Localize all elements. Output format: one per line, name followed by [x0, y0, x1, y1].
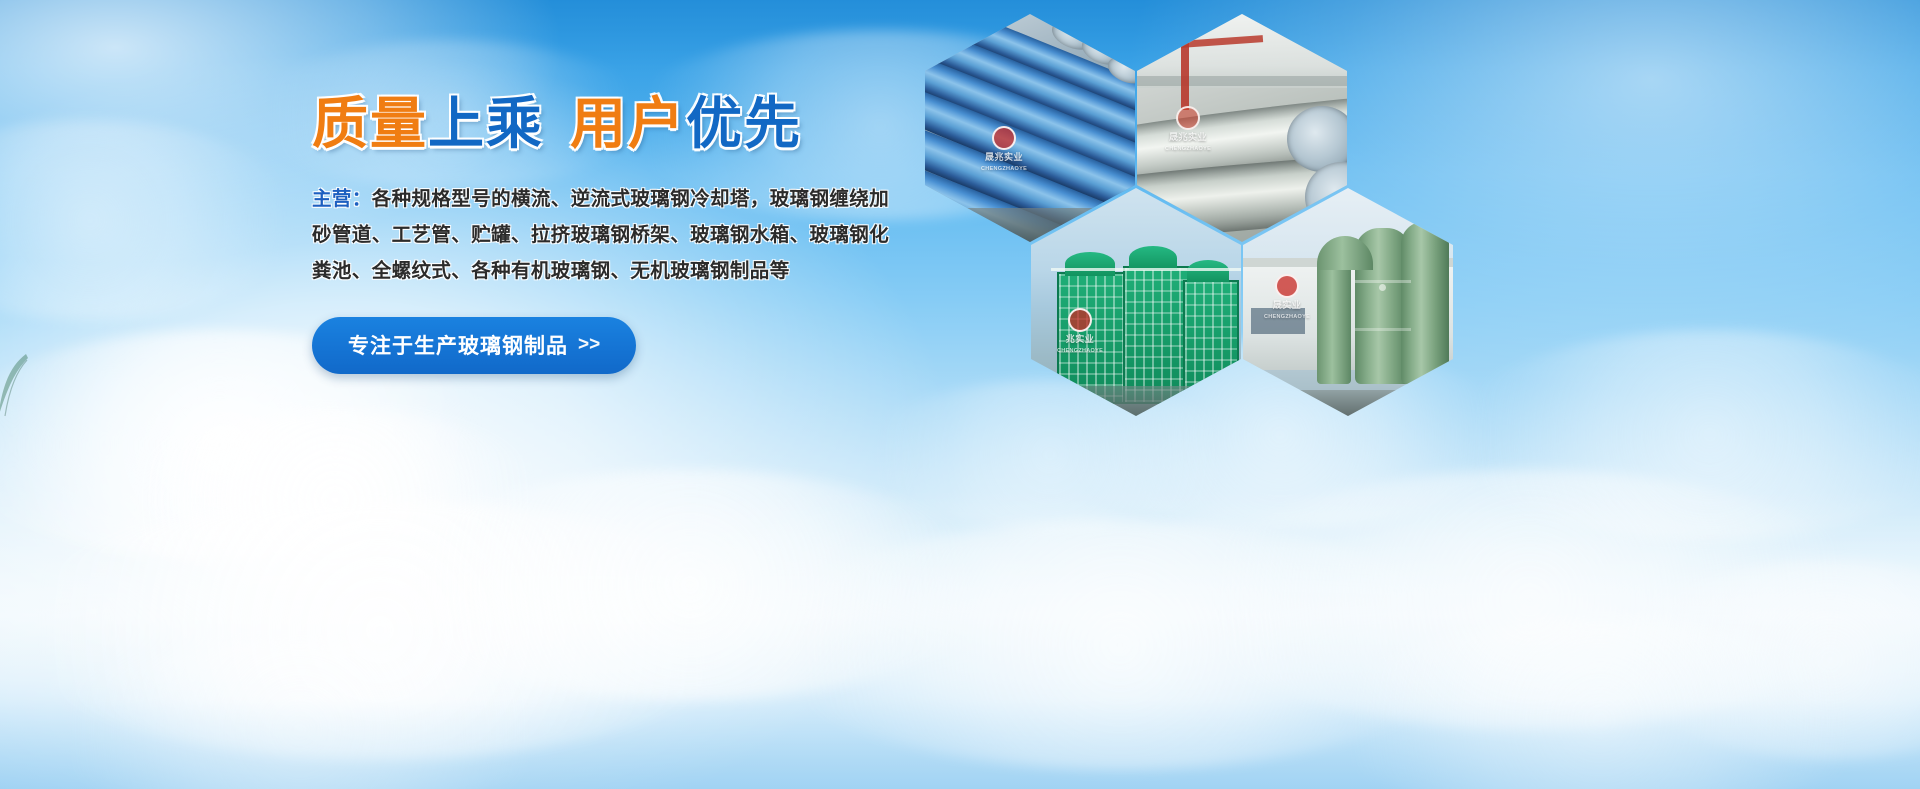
hero-banner: 晟兆实业 CHENGZHAOYE — [0, 0, 1920, 789]
headline-char: 上 — [428, 96, 486, 155]
headline-char: 量 — [370, 96, 428, 155]
banner-text-column: 质量上乘用户优先 主营：各种规格型号的横流、逆流式玻璃钢冷却塔，玻璃钢缠绕加砂管… — [312, 96, 912, 374]
description-body: 各种规格型号的横流、逆流式玻璃钢冷却塔，玻璃钢缠绕加砂管道、工艺管、贮罐、拉挤玻… — [312, 188, 889, 282]
description-lead-label: 主营： — [312, 188, 372, 210]
headline-char: 质 — [312, 96, 370, 155]
chevron-double-right-icon: >> — [578, 334, 600, 356]
palm-leaf-icon — [0, 352, 30, 422]
page-title: 质量上乘用户优先 — [312, 96, 912, 155]
sky-bottom-haze — [0, 489, 1920, 789]
headline-char: 用 — [570, 96, 628, 155]
product-photo-collage: 晟兆实业 CHENGZHAOYE — [905, 0, 1525, 420]
headline-char: 先 — [744, 96, 802, 155]
cta-label: 专注于生产玻璃钢制品 — [348, 330, 568, 360]
headline-char: 乘 — [486, 96, 544, 155]
headline-char: 优 — [686, 96, 744, 155]
focus-production-cta-button[interactable]: 专注于生产玻璃钢制品 >> — [312, 317, 636, 374]
headline-char: 户 — [628, 96, 686, 155]
banner-description: 主营：各种规格型号的横流、逆流式玻璃钢冷却塔，玻璃钢缠绕加砂管道、工艺管、贮罐、… — [312, 181, 904, 289]
